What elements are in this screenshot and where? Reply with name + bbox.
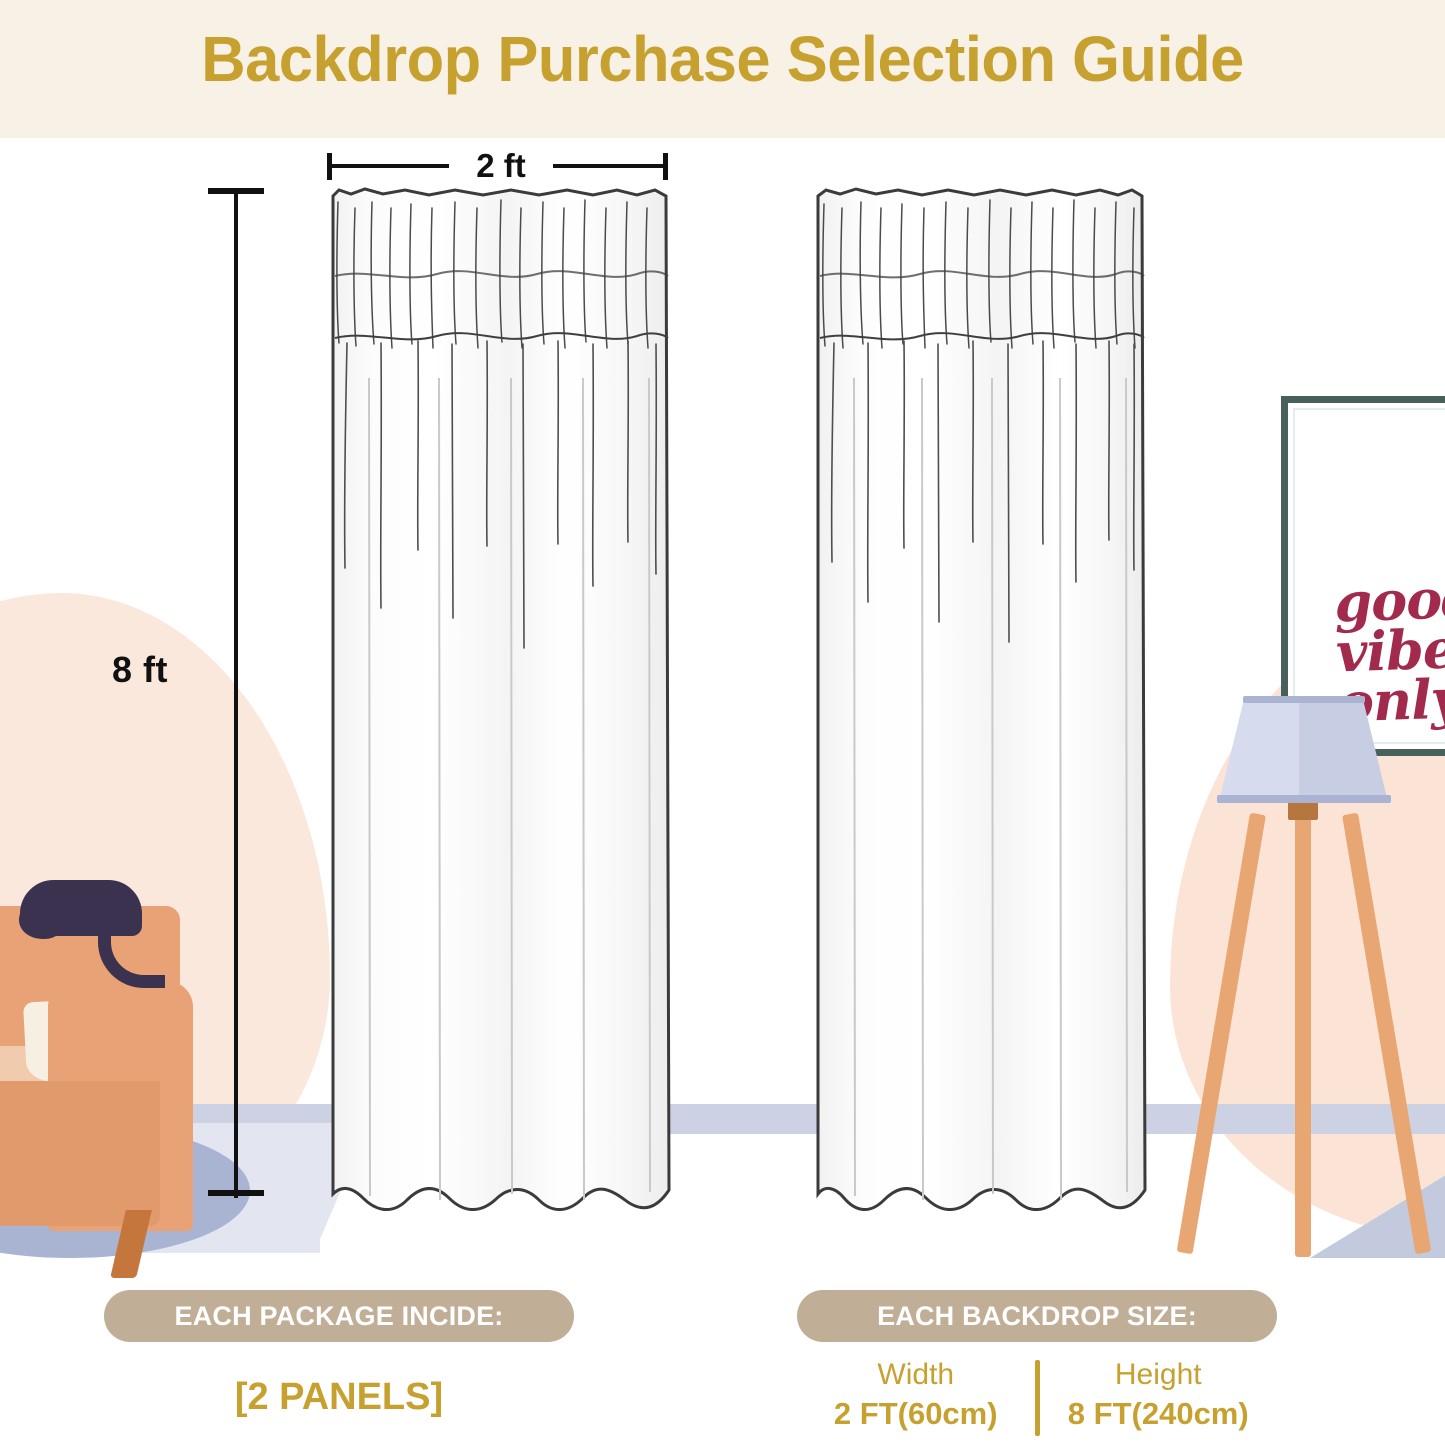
size-height-key: Height <box>1040 1356 1278 1394</box>
width-dimension-label: 2 ft <box>453 147 549 185</box>
package-include-pill: EACH PACKAGE INCIDE: <box>104 1290 574 1342</box>
lamp-hub <box>1288 802 1318 820</box>
size-column-height: Height 8 FT(240cm) <box>1040 1356 1278 1434</box>
width-dimension-cap-right <box>663 153 668 180</box>
package-panels-value: [2 PANELS] <box>104 1376 574 1419</box>
lamp-shade-top-rim <box>1243 696 1365 703</box>
infographic-page: Backdrop Purchase Selection Guide good <box>0 0 1445 1445</box>
height-dimension-label: 8 ft <box>112 649 168 691</box>
backdrop-size-pill: EACH BACKDROP SIZE: <box>797 1290 1277 1342</box>
width-dimension: 2 ft <box>325 150 670 184</box>
size-width-key: Width <box>797 1356 1035 1394</box>
size-width-value: 2 FT(60cm) <box>797 1394 1035 1434</box>
sofa-base <box>0 1081 160 1226</box>
cat-head-icon <box>19 901 65 939</box>
package-include-label: EACH PACKAGE INCIDE: <box>174 1301 503 1332</box>
height-dimension-cap-bottom <box>208 1190 264 1196</box>
height-dimension-line <box>234 188 238 1198</box>
room-scene: good vibes only <box>0 138 1445 1445</box>
page-title: Backdrop Purchase Selection Guide <box>29 22 1416 96</box>
curtain-panel-left <box>325 178 675 1243</box>
size-column-width: Width 2 FT(60cm) <box>797 1356 1035 1434</box>
lamp-leg-center <box>1295 814 1311 1257</box>
backdrop-size-values: Width 2 FT(60cm) Height 8 FT(240cm) <box>797 1356 1277 1444</box>
width-dimension-line-left <box>329 164 449 168</box>
curtain-panel-right <box>810 178 1150 1243</box>
width-dimension-line-right <box>553 164 666 168</box>
size-height-value: 8 FT(240cm) <box>1040 1394 1278 1434</box>
backdrop-size-label: EACH BACKDROP SIZE: <box>877 1301 1197 1332</box>
lamp-shade-bottom-rim <box>1217 795 1391 803</box>
